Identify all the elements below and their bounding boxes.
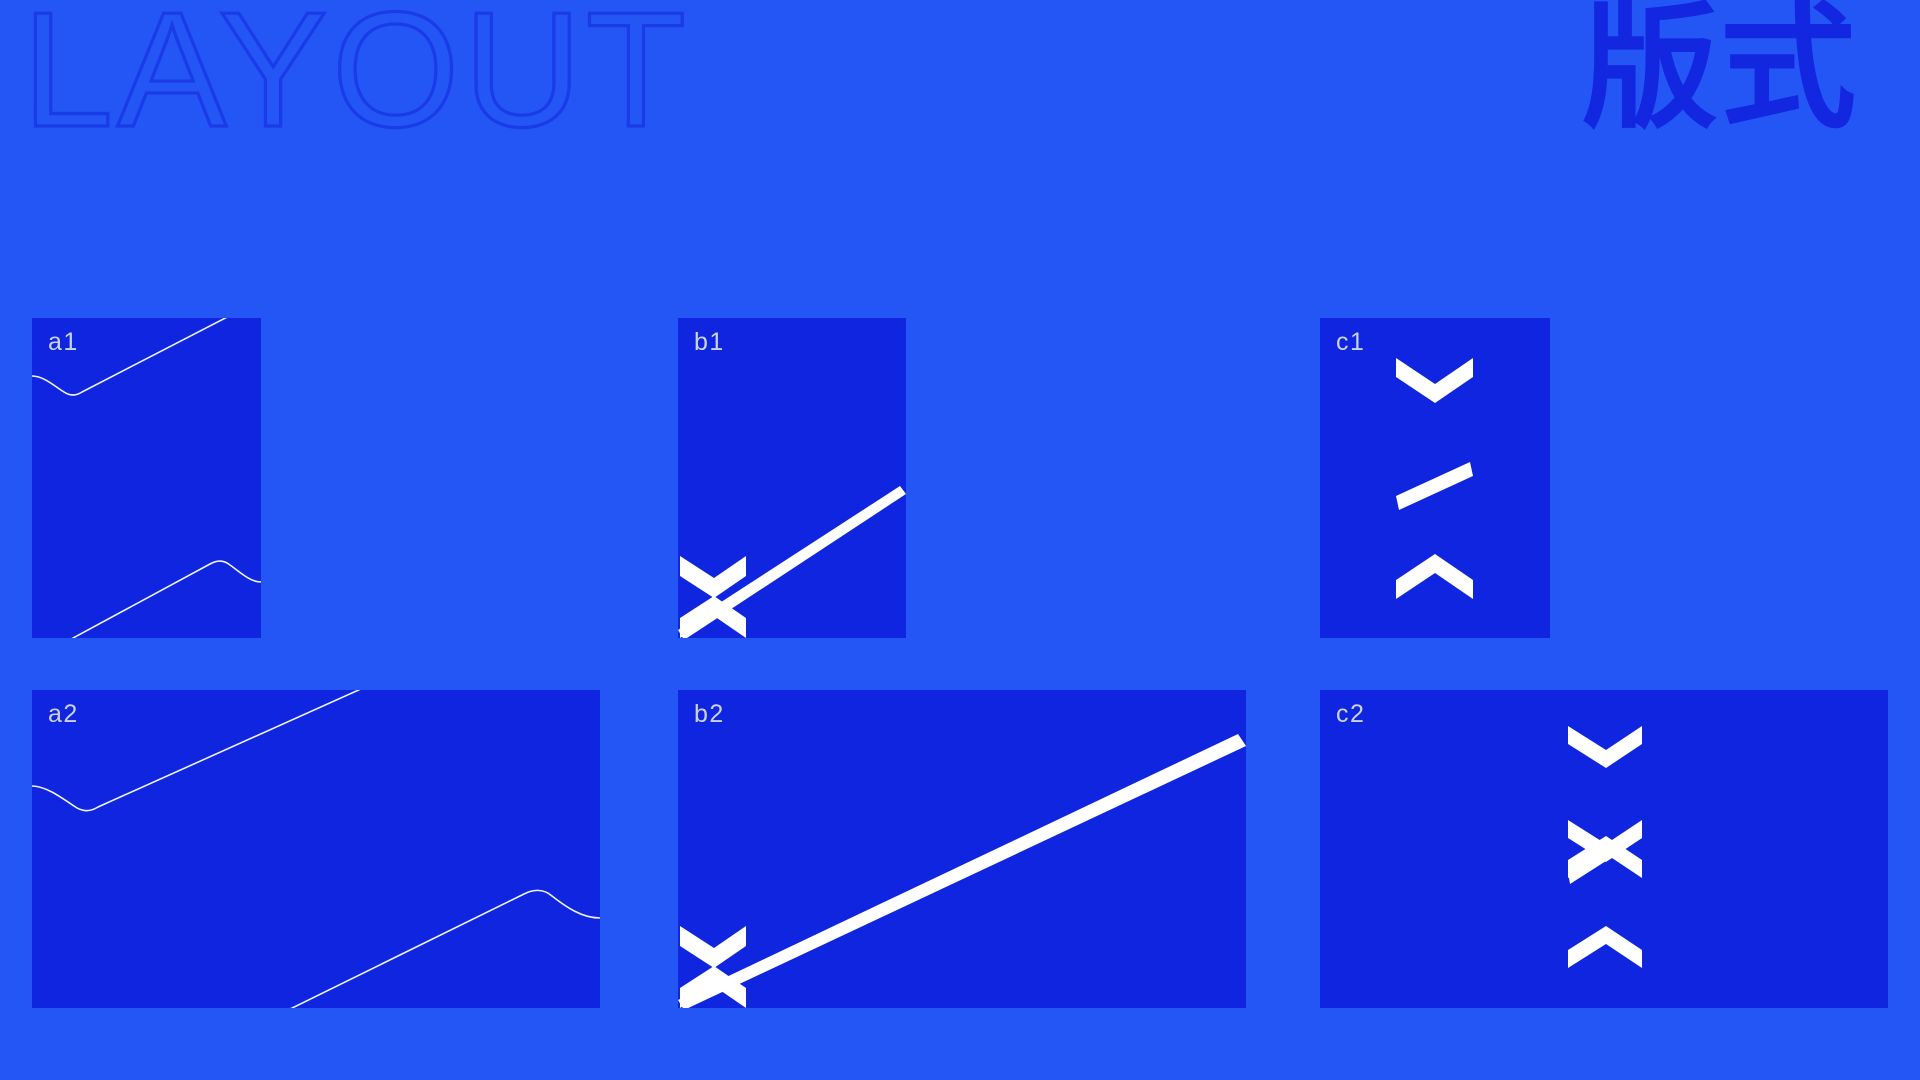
diagonal-bar-mark xyxy=(678,734,1246,1008)
page-title-cjk: 版式 xyxy=(1582,0,1858,141)
chevron-down-mark xyxy=(1396,358,1473,403)
chevron-down-mark xyxy=(680,556,746,598)
panel-label-a2: a2 xyxy=(48,700,79,729)
panel-label-c2: c2 xyxy=(1336,700,1365,729)
panel-a1-artwork xyxy=(32,318,261,638)
panel-grid: a1 b1 c1 xyxy=(32,318,1888,1008)
panel-label-c1: c1 xyxy=(1336,328,1365,357)
page-title-latin-text: LAYOUT xyxy=(22,0,690,161)
panel-a1[interactable]: a1 xyxy=(32,318,261,638)
panel-label-b2: b2 xyxy=(694,700,725,729)
chevron-down-mark xyxy=(680,926,746,968)
panel-c1-artwork xyxy=(1320,318,1550,638)
panel-a2-artwork xyxy=(32,690,600,1008)
panel-label-b1: b1 xyxy=(694,328,725,357)
panel-b2[interactable]: b2 xyxy=(678,690,1246,1008)
panel-c2[interactable]: c2 xyxy=(1320,690,1888,1008)
panel-b1[interactable]: b1 xyxy=(678,318,906,638)
design-board-canvas: LAYOUT 版式 a1 b1 c1 xyxy=(0,0,1920,1080)
panel-a2[interactable]: a2 xyxy=(32,690,600,1008)
panel-b1-artwork xyxy=(678,318,906,638)
panel-label-a1: a1 xyxy=(48,328,79,357)
chevron-up-mark xyxy=(1568,926,1642,968)
chevron-up-mark xyxy=(1396,554,1473,599)
panel-b2-artwork xyxy=(678,690,1246,1008)
chevron-down-mark xyxy=(1568,726,1642,768)
diagonal-bar-mark xyxy=(678,486,906,638)
panel-c2-artwork xyxy=(1320,690,1888,1008)
diagonal-bar-mark xyxy=(1396,462,1473,510)
page-title-latin: LAYOUT xyxy=(22,0,722,164)
panel-c1[interactable]: c1 xyxy=(1320,318,1550,638)
